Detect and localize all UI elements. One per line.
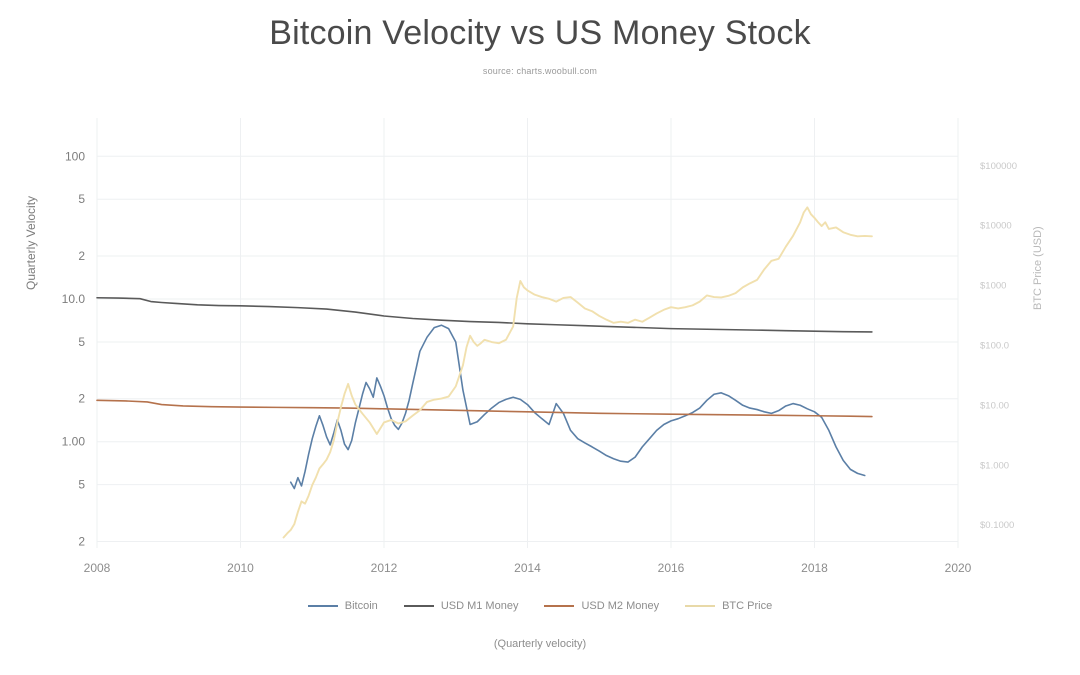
y-axis-left-tick: 5	[78, 192, 85, 206]
y-axis-right-tick: $0.1000	[980, 520, 1014, 531]
x-axis-tick: 2018	[801, 561, 828, 575]
x-axis-tick: 2016	[658, 561, 685, 575]
series-line	[97, 298, 872, 332]
legend-swatch-icon	[404, 605, 434, 607]
plot-area: 1005210.0521.0052$100000$10000$1000$100.…	[0, 0, 1080, 675]
y-axis-right-tick: $1000	[980, 281, 1006, 292]
series-line	[284, 207, 872, 537]
y-axis-left-tick: 5	[78, 335, 85, 349]
y-axis-right-tick: $100000	[980, 161, 1017, 172]
x-axis-tick: 2020	[945, 561, 972, 575]
legend-item[interactable]: Bitcoin	[308, 600, 378, 612]
legend-item[interactable]: BTC Price	[685, 600, 772, 612]
legend-swatch-icon	[685, 605, 715, 607]
legend-item[interactable]: USD M1 Money	[404, 600, 519, 612]
y-axis-left-tick: 2	[78, 534, 85, 548]
x-axis-tick: 2014	[514, 561, 541, 575]
chart-caption: (Quarterly velocity)	[0, 638, 1080, 650]
y-axis-right-tick: $10000	[980, 221, 1012, 232]
y-axis-left-tick: 1.00	[62, 435, 86, 449]
legend-label: Bitcoin	[345, 600, 378, 612]
legend-item[interactable]: USD M2 Money	[544, 600, 659, 612]
legend-label: USD M1 Money	[441, 600, 519, 612]
x-axis-tick: 2008	[84, 561, 111, 575]
x-axis-tick: 2012	[371, 561, 398, 575]
legend-label: BTC Price	[722, 600, 772, 612]
series-line	[291, 325, 865, 488]
y-axis-right-tick: $100.0	[980, 341, 1009, 352]
y-axis-left-tick: 10.0	[62, 292, 86, 306]
y-axis-left-tick: 100	[65, 149, 85, 163]
y-axis-left-tick: 2	[78, 392, 85, 406]
y-axis-right-tick: $1.000	[980, 460, 1009, 471]
chart-legend: BitcoinUSD M1 MoneyUSD M2 MoneyBTC Price	[0, 600, 1080, 612]
y-axis-left-tick: 5	[78, 478, 85, 492]
legend-label: USD M2 Money	[581, 600, 659, 612]
y-axis-right-tick: $10.00	[980, 400, 1009, 411]
legend-swatch-icon	[308, 605, 338, 607]
legend-swatch-icon	[544, 605, 574, 607]
x-axis-tick: 2010	[227, 561, 254, 575]
y-axis-left-tick: 2	[78, 249, 85, 263]
chart-container: Bitcoin Velocity vs US Money Stock sourc…	[0, 0, 1080, 675]
